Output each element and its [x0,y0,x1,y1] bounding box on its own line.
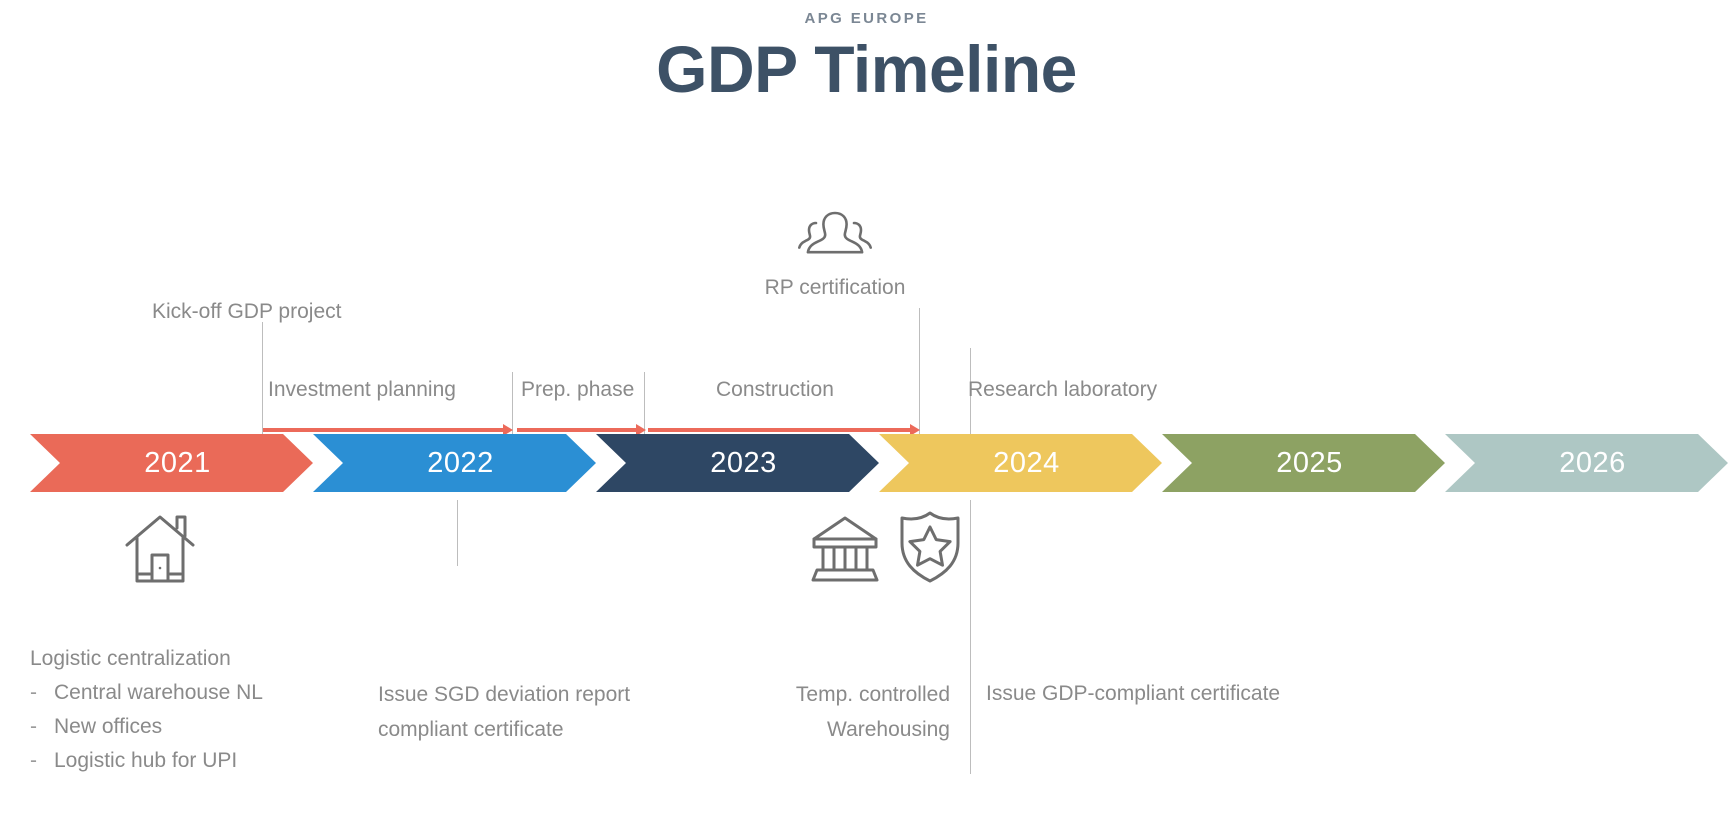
top-milestone-label-kickoff: Kick-off GDP project [152,300,341,324]
year-chevron-2023[interactable]: 2023 [596,434,879,492]
gdp-certificate-caption-line-1: Issue GDP-compliant certificate [986,677,1280,712]
year-label-2023: 2023 [710,447,777,480]
year-chevron-2025[interactable]: 2025 [1162,434,1445,492]
list-item-label: Logistic hub for UPI [54,744,237,778]
logistic-centralization-bullet-list: -Central warehouse NL -New offices -Logi… [30,676,360,778]
list-item: -Logistic hub for UPI [30,744,360,778]
bullet-dash: - [30,676,40,710]
page-title: GDP Timeline [0,33,1733,106]
bottom-caption-temp-controlled-warehousing: Temp. controlled Warehousing [700,678,950,747]
tick-rp-certification [919,308,920,434]
list-item-label: New offices [54,710,162,744]
year-chevron-2021[interactable]: 2021 [30,434,313,492]
year-label-2021: 2021 [144,447,211,480]
phase-label-research-laboratory: Research laboratory [968,378,1157,402]
year-label-2022: 2022 [427,447,494,480]
year-label-2024: 2024 [993,447,1060,480]
bullet-dash: - [30,710,40,744]
tick-2022-caption [457,500,458,566]
bottom-caption-logistic-centralization: Logistic centralization -Central warehou… [30,642,360,778]
sgd-caption-line-1: Issue SGD deviation report [378,678,630,713]
bullet-dash: - [30,744,40,778]
sgd-caption-line-2: compliant certificate [378,713,630,748]
bottom-milestone-logistic-centralization [115,510,205,588]
top-milestone-rp-certification: RP certification [725,200,945,300]
tick-2021-2022-boundary [262,322,263,434]
bottom-caption-gdp-compliant-certificate: Issue GDP-compliant certificate [986,677,1280,712]
phase-label-prep-phase: Prep. phase [521,378,634,402]
bottom-caption-sgd-deviation-report: Issue SGD deviation report compliant cer… [378,678,630,747]
top-milestone-label-rp-certification: RP certification [725,276,945,300]
year-chevron-2022[interactable]: 2022 [313,434,596,492]
year-label-2026: 2026 [1559,447,1626,480]
brand-eyebrow: APG EUROPE [0,10,1733,27]
year-chevron-2026[interactable]: 2026 [1445,434,1728,492]
warehousing-caption-line-1: Temp. controlled [700,678,950,713]
page-header: APG EUROPE GDP Timeline [0,0,1733,106]
bottom-milestone-temp-controlled-warehousing [800,510,890,588]
year-label-2025: 2025 [1276,447,1343,480]
house-icon [115,510,205,588]
bottom-milestone-gdp-compliant-certificate [885,508,975,586]
phase-label-investment-planning: Investment planning [268,378,456,402]
people-group-icon [725,200,945,266]
timeline-year-band: 2021 2022 2023 2024 2025 2026 [30,434,1710,492]
logistic-centralization-heading: Logistic centralization [30,642,360,676]
list-item-label: Central warehouse NL [54,676,263,710]
year-chevron-2024[interactable]: 2024 [879,434,1162,492]
shield-star-icon [885,508,975,586]
warehousing-caption-line-2: Warehousing [700,713,950,748]
list-item: -New offices [30,710,360,744]
phase-label-construction: Construction [716,378,834,402]
list-item: -Central warehouse NL [30,676,360,710]
bank-building-icon [800,510,890,588]
